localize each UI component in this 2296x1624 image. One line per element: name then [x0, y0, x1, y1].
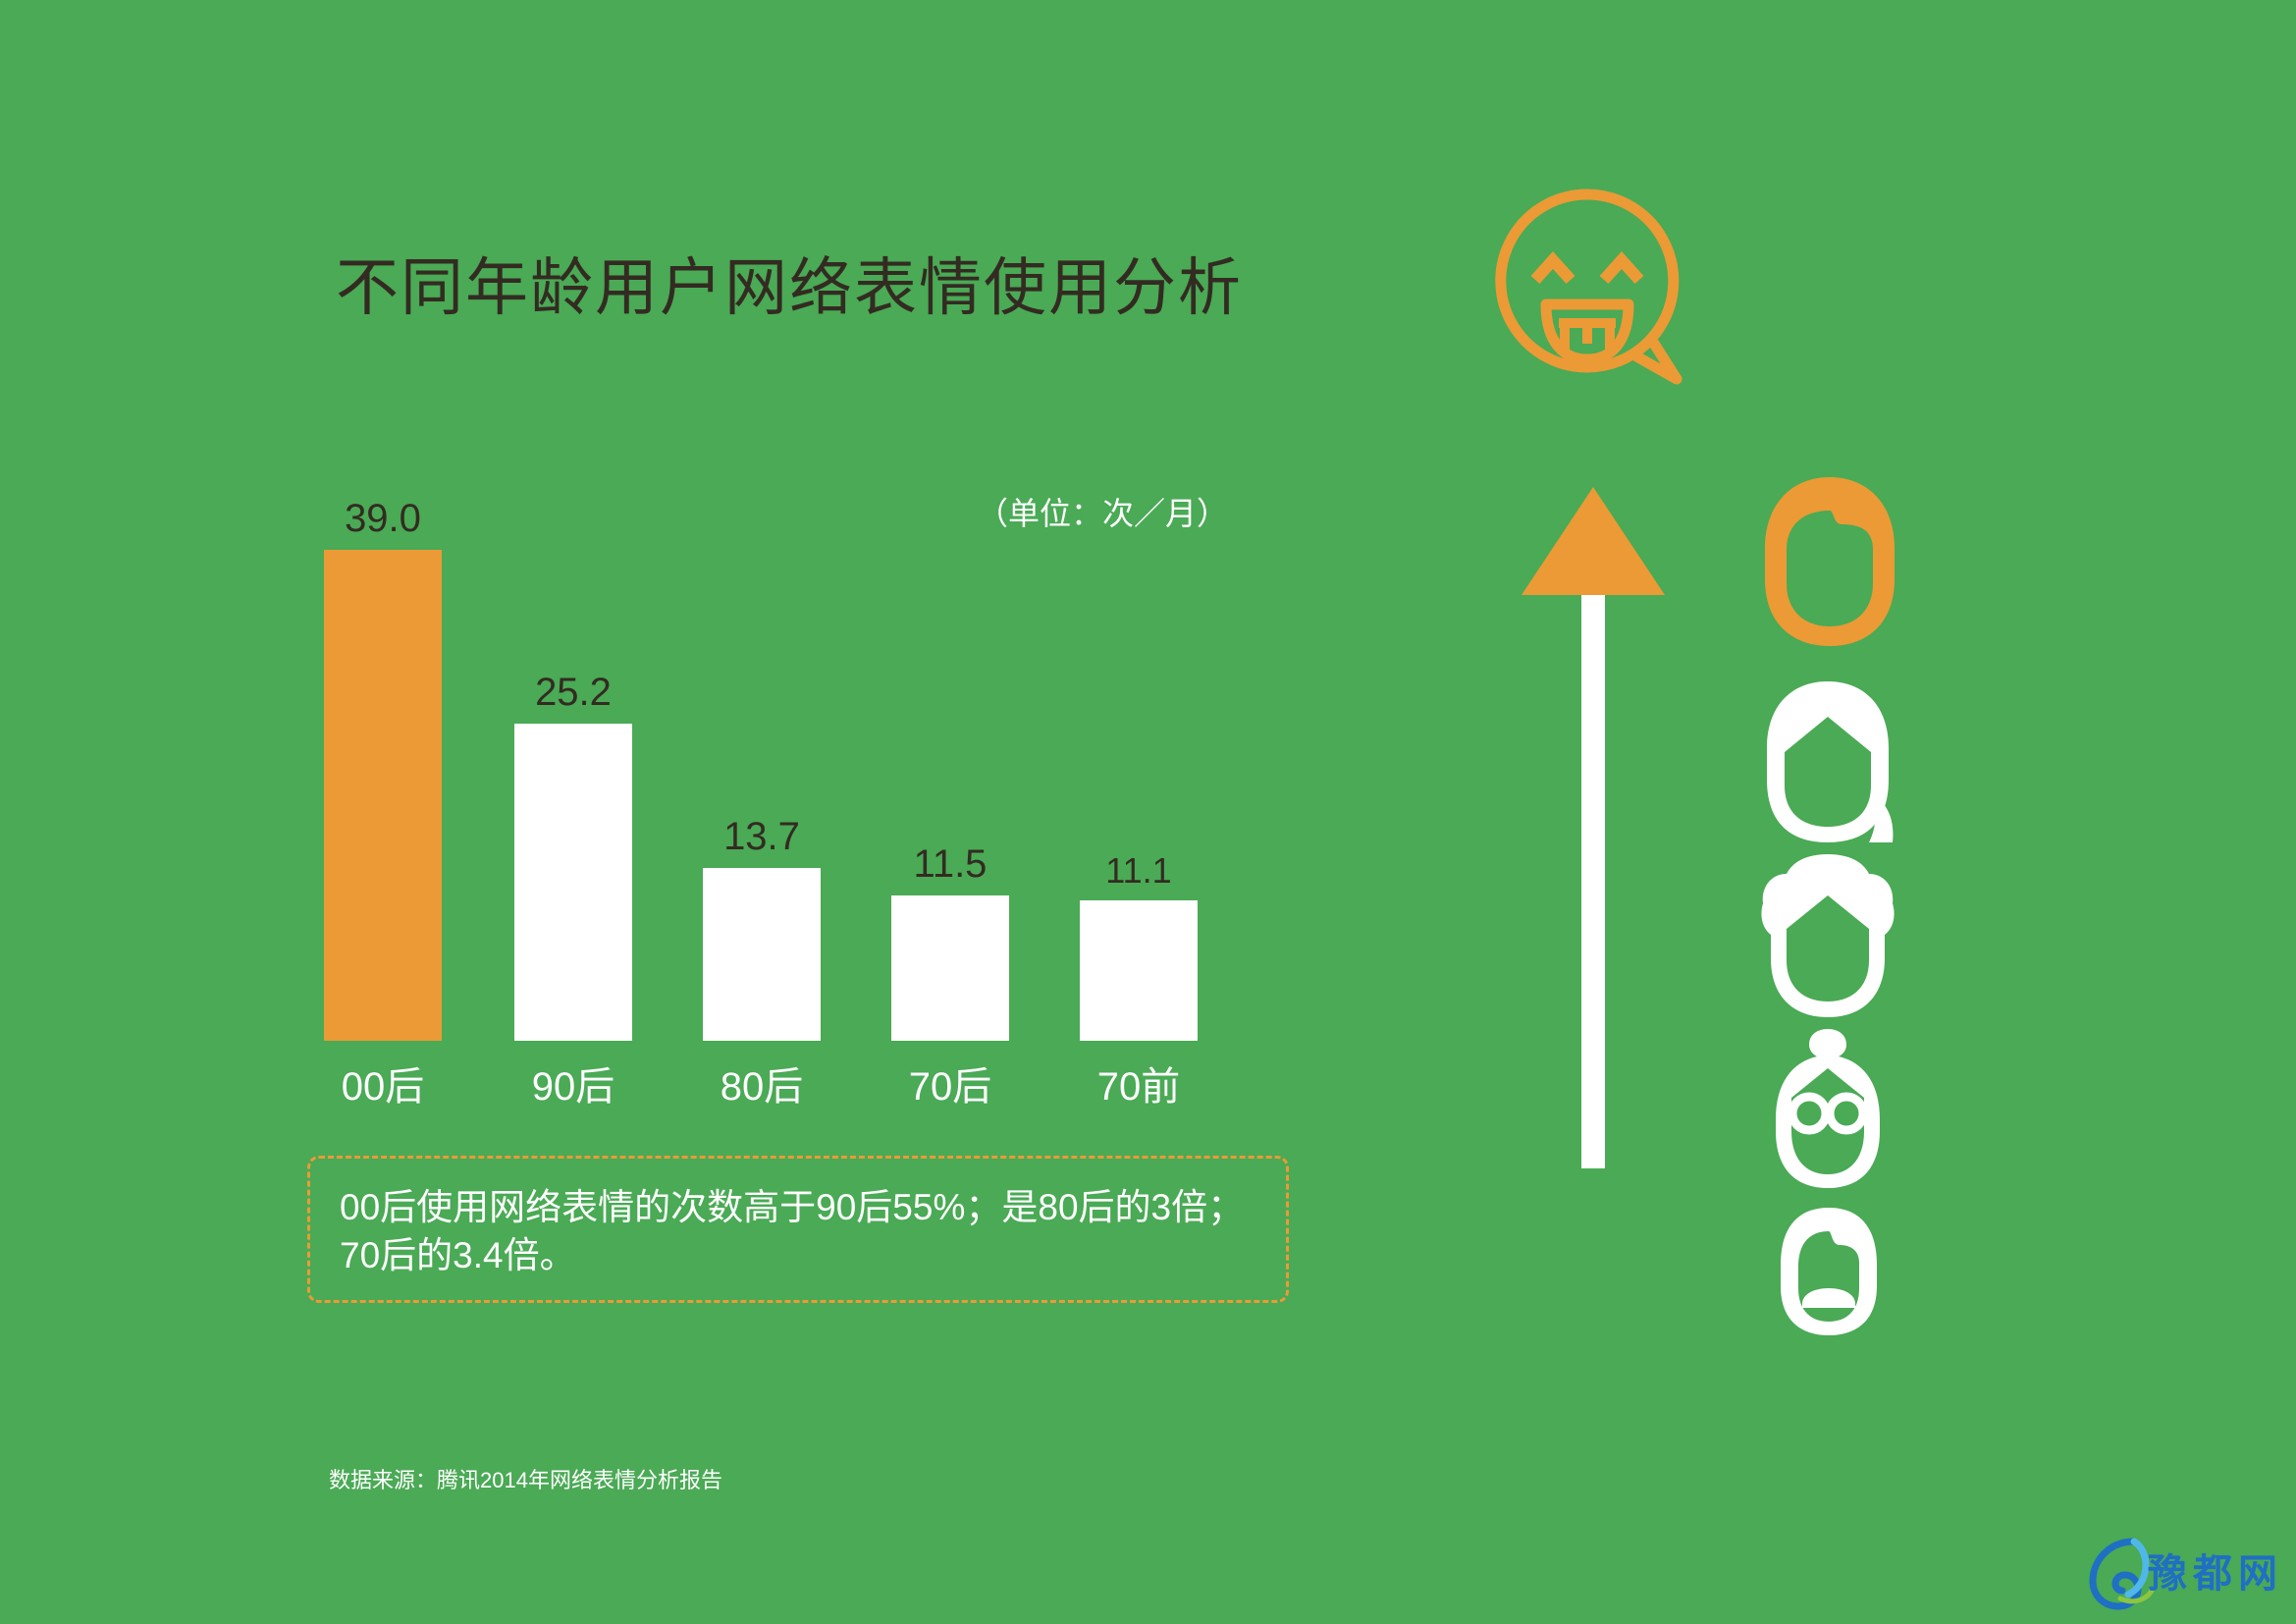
bar-value-label: 13.7: [723, 817, 800, 856]
old-man-avatar-icon: [1775, 1206, 1883, 1339]
elderly-glasses-avatar-icon: [1762, 1029, 1894, 1192]
bar-value-label: 11.5: [914, 844, 988, 884]
infographic-canvas: 不同年龄用户网络表情使用分析 （单位：次／月） 39.0 00后 25.2 90…: [0, 0, 2296, 1624]
bar-category-label-2: 80后: [678, 1055, 845, 1111]
smiling-emoji-speech-bubble-icon: [1484, 187, 1690, 393]
bar-value-label: 39.0: [345, 499, 421, 538]
bar-column-3: 11.5: [891, 844, 1009, 1041]
callout-line-1: 00后使用网络表情的次数高于90后55%；是80后的3倍；: [340, 1184, 1256, 1232]
bar-column-2: 13.7: [703, 817, 821, 1041]
bar-column-4: 11.1: [1080, 853, 1198, 1041]
bar-rect: [324, 550, 442, 1041]
illustration-group: [1443, 187, 1993, 1424]
bar-chart: 39.0 00后 25.2 90后 13.7 80后 11.5 70后 11.1…: [324, 461, 1227, 1041]
page-title: 不同年龄用户网络表情使用分析: [336, 253, 1243, 322]
woman-avatar-icon: [1759, 677, 1896, 846]
bar-category-label-3: 70后: [867, 1055, 1034, 1111]
bar-rect: [514, 724, 632, 1041]
callout-box: 00后使用网络表情的次数高于90后55%；是80后的3倍； 70后的3.4倍。: [307, 1156, 1289, 1303]
bar-category-label-0: 00后: [299, 1055, 466, 1111]
young-person-orange-avatar-icon: [1757, 473, 1902, 650]
curly-hair-avatar-icon: [1759, 852, 1896, 1021]
bar-rect: [891, 895, 1009, 1041]
up-arrow-icon: [1520, 481, 1667, 1168]
bar-value-label: 25.2: [535, 673, 612, 712]
bar-category-label-4: 70前: [1055, 1055, 1222, 1111]
bar-rect: [1080, 900, 1198, 1041]
bar-rect: [703, 868, 821, 1041]
bar-category-label-1: 90后: [490, 1055, 657, 1111]
bar-value-label: 11.1: [1105, 853, 1171, 889]
bar-column-0: 39.0: [324, 499, 442, 1041]
callout-line-2: 70后的3.4倍。: [340, 1232, 1256, 1280]
data-source-text: 数据来源：腾讯2014年网络表情分析报告: [329, 1463, 722, 1494]
watermark-text: 豫都网: [2148, 1542, 2283, 1598]
watermark-logo: 豫都网: [2089, 1528, 2285, 1612]
bar-column-1: 25.2: [514, 673, 632, 1041]
